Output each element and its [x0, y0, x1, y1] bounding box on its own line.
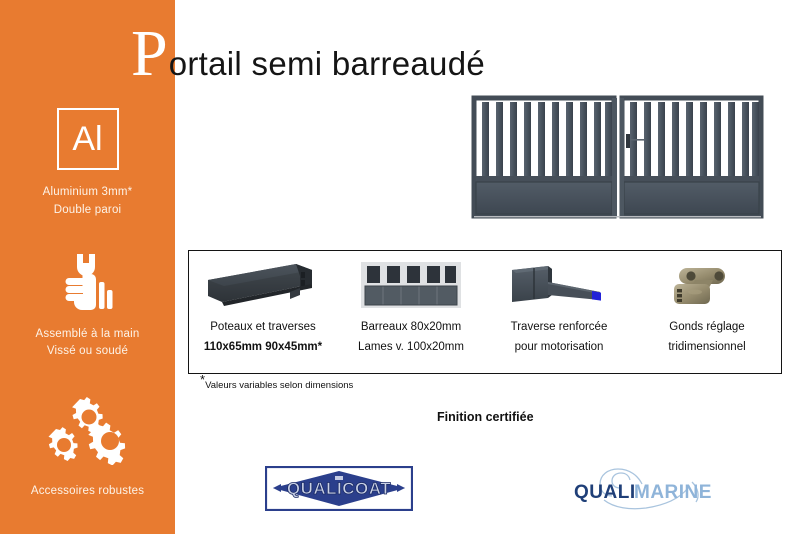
- sidebar-item-aluminium-line-2: Double paroi: [43, 202, 133, 220]
- post-profile-icon: [204, 260, 322, 312]
- sidebar-item-aluminium: Al Aluminium 3mm* Double paroi: [0, 108, 175, 220]
- gate-illustration: [470, 88, 765, 223]
- qualimarine-logo: QUALI MARINE: [568, 466, 728, 512]
- qualimarine-wordmark-light: MARINE: [634, 482, 712, 503]
- feature-cell-crossbar-line-2: pour motorisation: [511, 337, 608, 357]
- gears-icon: [42, 395, 134, 465]
- footnote-text: Valeurs variables selon dimensions: [205, 380, 353, 391]
- feature-cell-bars: Barreaux 80x20mm Lames v. 100x20mm: [337, 251, 485, 373]
- feature-cell-crossbar-line-1: Traverse renforcée: [511, 317, 608, 337]
- qualimarine-wordmark-dark: QUALI: [574, 482, 636, 503]
- sidebar-item-accessories-line-1: Accessoires robustes: [31, 483, 144, 501]
- gate-leaf-left: [474, 98, 614, 216]
- feature-cell-hinge: Gonds réglage tridimensionnel: [633, 251, 781, 373]
- sidebar-item-assembly-line-2: Vissé ou soudé: [36, 343, 140, 361]
- feature-cell-crossbar: Traverse renforcée pour motorisation: [485, 251, 633, 373]
- aluminium-al-box-icon: Al: [57, 108, 119, 170]
- feature-cell-posts-line-1: Poteaux et traverses: [204, 317, 322, 337]
- al-symbol-label: Al: [72, 122, 102, 156]
- qualicoat-wordmark: QUALICOAT: [287, 479, 391, 498]
- feature-box: Poteaux et traverses 110x65mm 90x45mm*: [188, 250, 782, 374]
- sidebar-item-aluminium-line-1: Aluminium 3mm*: [43, 184, 133, 202]
- sidebar-item-assembly-line-1: Assemblé à la main: [36, 326, 140, 344]
- bars-slats-icon: [361, 260, 461, 312]
- title-drop-cap: P: [131, 24, 168, 84]
- feature-cell-posts: Poteaux et traverses 110x65mm 90x45mm*: [189, 251, 337, 373]
- adjustable-hinge-icon: [667, 260, 747, 312]
- sidebar-item-accessories: Accessoires robustes: [0, 395, 175, 501]
- product-spec-sheet: Al Aluminium 3mm* Double paroi: [0, 0, 800, 534]
- page-title: P ortail semi barreaudé: [131, 24, 485, 84]
- feature-cell-bars-line-1: Barreaux 80x20mm: [358, 317, 464, 337]
- feature-cell-posts-line-2: 110x65mm 90x45mm*: [204, 337, 322, 357]
- footnote: *Valeurs variables selon dimensions: [200, 380, 353, 391]
- gate-leaf-right: [622, 98, 761, 216]
- reinforced-crossbar-icon: [504, 260, 614, 312]
- certification-title: Finition certifiée: [437, 410, 534, 424]
- hand-wrench-icon: [55, 252, 121, 314]
- feature-cell-hinge-line-1: Gonds réglage: [668, 317, 745, 337]
- feature-cell-hinge-line-2: tridimensionnel: [668, 337, 745, 357]
- title-text: ortail semi barreaudé: [169, 41, 485, 87]
- sidebar-item-assembly: Assemblé à la main Vissé ou soudé: [0, 252, 175, 362]
- feature-cell-bars-line-2: Lames v. 100x20mm: [358, 337, 464, 357]
- qualicoat-logo: QUALICOAT: [265, 466, 413, 511]
